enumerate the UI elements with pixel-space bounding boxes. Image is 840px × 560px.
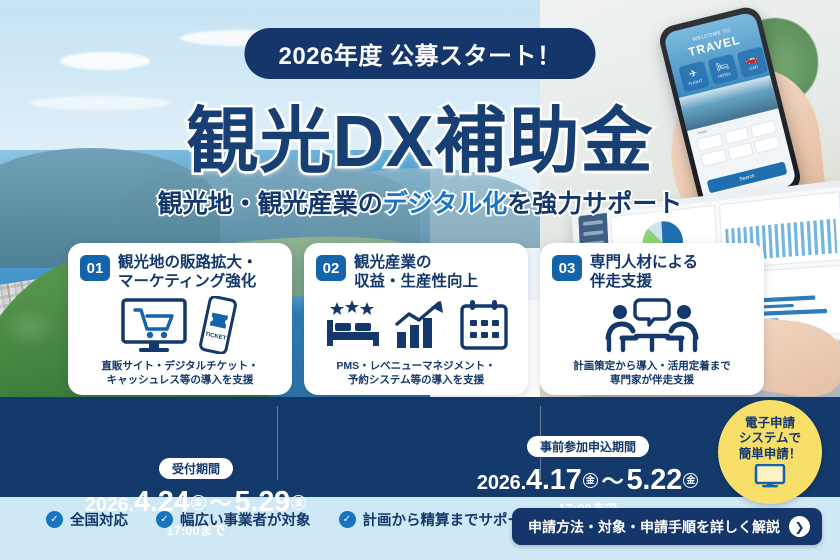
cta-button[interactable]: 申請方法・対象・申請手順を詳しく解説 ❯ <box>512 508 822 545</box>
e-application-line1: 電子申請 <box>745 416 795 432</box>
campaign-badge: 2026年度 公募スタート！ <box>244 28 595 79</box>
feature-card-list: 01 観光地の販路拡大・ マーケティング強化 <box>68 243 764 395</box>
card-caption-line2: キャッシュレス等の導入を支援 <box>101 373 258 387</box>
card-caption: PMS・レベニューマネジメント・ 予約システム等の導入を支援 <box>336 359 495 387</box>
date-tilde: ～ <box>602 469 624 494</box>
card-caption: 直販サイト・デジタルチケット・ キャッシュレス等の導入を支援 <box>101 359 258 387</box>
e-application-line2: システムで <box>739 431 801 447</box>
card-title: 観光地の販路拡大・ マーケティング強化 <box>118 253 258 292</box>
footer-check-list: ✓ 全国対応 ✓ 幅広い事業者が対象 ✓ 計画から精算までサポート <box>46 509 537 530</box>
page-title: 観光DX補助金 <box>186 82 653 187</box>
hotel-bed-stars-icon <box>323 298 383 352</box>
feature-card-01: 01 観光地の販路拡大・ マーケティング強化 <box>68 243 292 395</box>
card-icon-group <box>323 294 509 357</box>
card-title-line1: 専門人材による <box>590 253 698 272</box>
footer-check-item: ✓ 幅広い事業者が対象 <box>156 509 311 530</box>
subtitle-part-after: を強力サポート <box>507 190 682 218</box>
card-title-line2: 収益・生産性向上 <box>354 272 478 291</box>
cta-label: 申請方法・対象・申請手順を詳しく解説 <box>528 517 780 537</box>
ticket-phone-icon: TICKET <box>197 296 239 354</box>
footer-check-item: ✓ 計画から精算までサポート <box>339 509 537 530</box>
e-application-line3: 簡単申請！ <box>739 447 802 463</box>
card-header: 01 観光地の販路拡大・ マーケティング強化 <box>76 253 284 292</box>
card-title: 専門人材による 伴走支援 <box>590 253 698 292</box>
footer-check-label: 計画から精算までサポート <box>363 509 537 530</box>
card-icon-group: TICKET <box>121 294 239 357</box>
pre-entry-start-date: 4.17 <box>526 464 582 496</box>
card-number-badge: 02 <box>316 255 346 281</box>
card-caption: 計画策定から導入・活用定着まで 専門家が伴走支援 <box>573 359 731 387</box>
pre-entry-end-dow: 金 <box>683 473 698 488</box>
page-subtitle: 観光地・観光産業のデジタル化を強力サポート <box>158 184 683 220</box>
card-caption-line1: 直販サイト・デジタルチケット・ <box>101 359 258 373</box>
feature-card-02: 02 観光産業の 収益・生産性向上 <box>304 243 528 395</box>
card-title-line1: 観光産業の <box>354 253 478 272</box>
growth-chart-icon <box>393 298 449 352</box>
subtitle-part-before: 観光地・観光産業の <box>158 190 383 218</box>
reception-period-tag: 受付期間 <box>159 458 233 479</box>
e-application-badge: 電子申請 システムで 簡単申請！ <box>718 400 822 504</box>
footer-check-label: 全国対応 <box>70 509 128 530</box>
check-icon: ✓ <box>46 511 63 528</box>
check-icon: ✓ <box>156 511 173 528</box>
card-header: 03 専門人材による 伴走支援 <box>548 253 756 292</box>
feature-card-03: 03 専門人材による 伴走支援 <box>540 243 764 395</box>
card-title-line2: マーケティング強化 <box>118 272 258 291</box>
pre-entry-period-dates: 2026.4.17金～5.22金 <box>452 464 724 497</box>
consultation-people-icon <box>592 296 712 354</box>
card-header: 02 観光産業の 収益・生産性向上 <box>312 253 520 292</box>
reception-end-dow: 金 <box>291 495 306 510</box>
pre-entry-year: 2026. <box>477 472 526 494</box>
calendar-icon <box>459 298 509 352</box>
chevron-right-icon: ❯ <box>789 516 810 537</box>
tourism-dx-subsidy-banner: WELCOME TO TRAVEL ✈ FLIGHT 🛏 HOTEL 🚗 CAR <box>0 0 840 560</box>
card-caption-line2: 専門家が伴走支援 <box>573 373 731 387</box>
footer-check-label: 幅広い事業者が対象 <box>180 509 311 530</box>
card-caption-line1: PMS・レベニューマネジメント・ <box>336 359 495 373</box>
pre-entry-end-date: 5.22 <box>626 464 682 496</box>
check-icon: ✓ <box>339 511 356 528</box>
monitor-cart-icon <box>121 298 187 352</box>
desktop-monitor-icon <box>754 464 786 488</box>
card-number-badge: 01 <box>80 255 110 281</box>
footer-check-item: ✓ 全国対応 <box>46 509 128 530</box>
pre-entry-start-dow: 金 <box>583 473 598 488</box>
card-title-line2: 伴走支援 <box>590 272 698 291</box>
card-title: 観光産業の 収益・生産性向上 <box>354 253 478 292</box>
card-number-badge: 03 <box>552 255 582 281</box>
reception-period-block: 受付期間 2026.4.24金～5.29金 17:00まで <box>60 458 332 476</box>
card-title-line1: 観光地の販路拡大・ <box>118 253 258 272</box>
pre-entry-period-tag: 事前参加申込期間 <box>527 436 649 457</box>
pre-entry-period-block: 事前参加申込期間 2026.4.17金～5.22金 17:00まで <box>452 436 724 452</box>
info-row: 受付期間 2026.4.24金～5.29金 17:00まで 事前参加申込期間 2… <box>0 406 740 424</box>
card-caption-line2: 予約システム等の導入を支援 <box>336 373 495 387</box>
card-icon-group <box>592 294 712 357</box>
subtitle-highlight: デジタル化 <box>383 190 508 218</box>
reception-start-dow: 金 <box>191 495 206 510</box>
card-caption-line1: 計画策定から導入・活用定着まで <box>573 359 731 373</box>
